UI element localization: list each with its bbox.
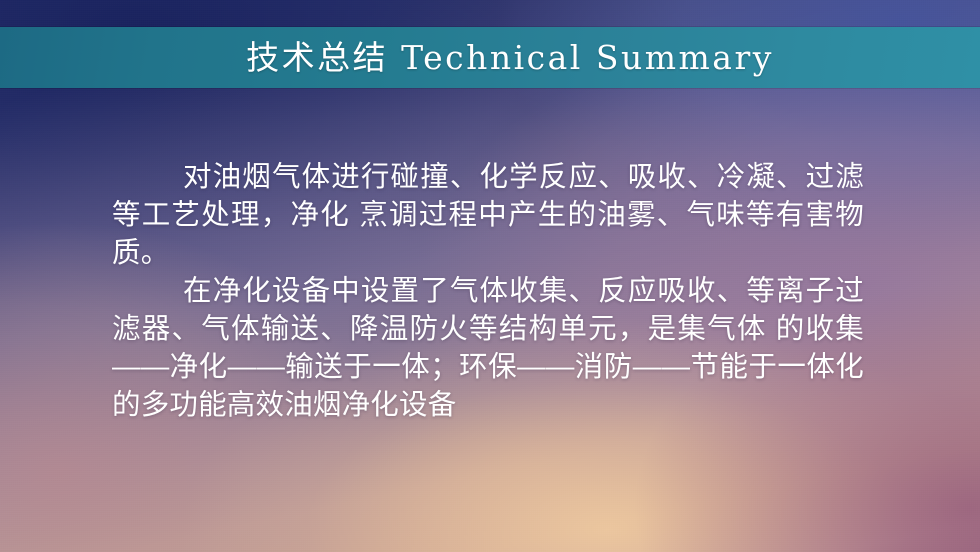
body-paragraph-1: 对油烟气体进行碰撞、化学反应、吸收、冷凝、过滤等工艺处理，净化 烹调过程中产生的… bbox=[112, 158, 864, 272]
slide-body-text: 对油烟气体进行碰撞、化学反应、吸收、冷凝、过滤等工艺处理，净化 烹调过程中产生的… bbox=[112, 158, 864, 424]
body-paragraph-2: 在净化设备中设置了气体收集、反应吸收、等离子过滤器、气体输送、降温防火等结构单元… bbox=[112, 272, 864, 424]
slide-title-banner: 技术总结 Technical Summary bbox=[0, 27, 980, 88]
presentation-slide: 技术总结 Technical Summary 对油烟气体进行碰撞、化学反应、吸收… bbox=[0, 0, 980, 552]
slide-title: 技术总结 Technical Summary bbox=[206, 41, 774, 74]
